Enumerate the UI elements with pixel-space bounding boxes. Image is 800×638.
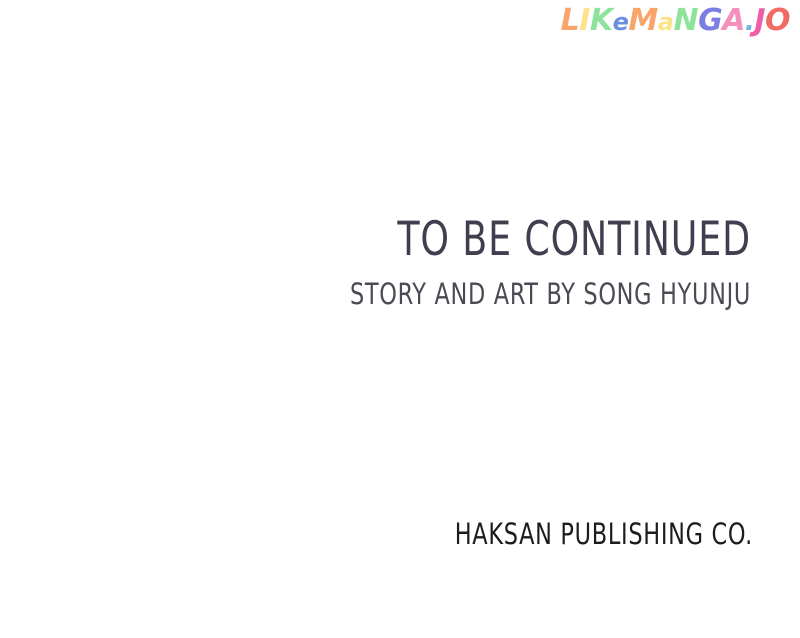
comic-end-page: LIKeMaNGA.JO TO BE CONTINUED STORY AND A… <box>0 0 800 638</box>
to-be-continued-title: TO BE CONTINUED <box>105 212 751 268</box>
watermark-letter-3: e <box>613 4 629 40</box>
watermark-letter-8: A <box>722 3 745 39</box>
likemanga-watermark-logo: LIKeMaNGA.JO <box>520 0 800 42</box>
watermark-letter-1: I <box>579 3 590 39</box>
publisher-block: HAKSAN PUBLISHING CO. <box>0 516 753 552</box>
watermark-letter-6: N <box>673 3 698 39</box>
watermark-text: LIKeMaNGA.JO <box>561 3 790 40</box>
watermark-letter-5: a <box>658 4 674 40</box>
watermark-letter-0: L <box>561 3 580 39</box>
watermark-letter-10: J <box>754 3 765 39</box>
story-and-art-credit: STORY AND ART BY SONG HYUNJU <box>105 276 751 312</box>
watermark-letter-11: O <box>765 3 790 39</box>
watermark-letter-7: G <box>698 3 722 39</box>
watermark-letter-9: . <box>745 4 754 40</box>
credits-block: TO BE CONTINUED STORY AND ART BY SONG HY… <box>0 212 751 312</box>
publisher-name: HAKSAN PUBLISHING CO. <box>105 516 753 552</box>
watermark-letter-2: K <box>590 3 613 39</box>
watermark-letter-4: M <box>628 3 657 39</box>
